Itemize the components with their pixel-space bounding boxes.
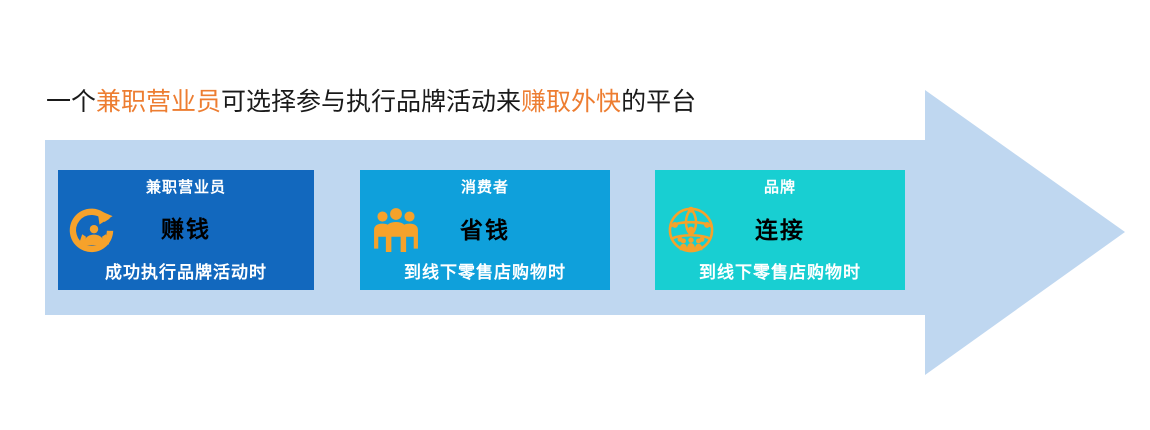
card-3-footer: 到线下零售店购物时 [655,258,905,283]
headline-seg-5: 的平台 [621,89,696,116]
page-title: 一个兼职营业员可选择参与执行品牌活动来赚取外快的平台 [46,86,696,120]
card-brand[interactable]: 品牌 [655,170,905,290]
card-2-title: 消费者 [360,176,610,197]
card-1-title: 兼职营业员 [58,176,314,197]
card-3-title: 品牌 [655,176,905,197]
headline-seg-1: 一个 [46,89,96,116]
card-consumer[interactable]: 消费者 省钱 到线下零售店购物时 [360,170,610,290]
card-2-footer: 到线下零售店购物时 [360,258,610,283]
slide-canvas: 一个兼职营业员可选择参与执行品牌活动来赚取外快的平台 兼职营业员 赚钱 成功执行… [0,0,1150,430]
card-1-main-label: 赚钱 [58,210,314,244]
headline-seg-2-highlight: 兼职营业员 [96,89,221,116]
card-3-main-label: 连接 [655,211,905,245]
card-2-main-label: 省钱 [360,211,610,245]
card-part-time-salesperson[interactable]: 兼职营业员 赚钱 成功执行品牌活动时 [58,170,314,290]
headline-seg-4-highlight: 赚取外快 [521,89,621,116]
headline-seg-3: 可选择参与执行品牌活动来 [221,89,521,116]
card-1-footer: 成功执行品牌活动时 [58,258,314,283]
